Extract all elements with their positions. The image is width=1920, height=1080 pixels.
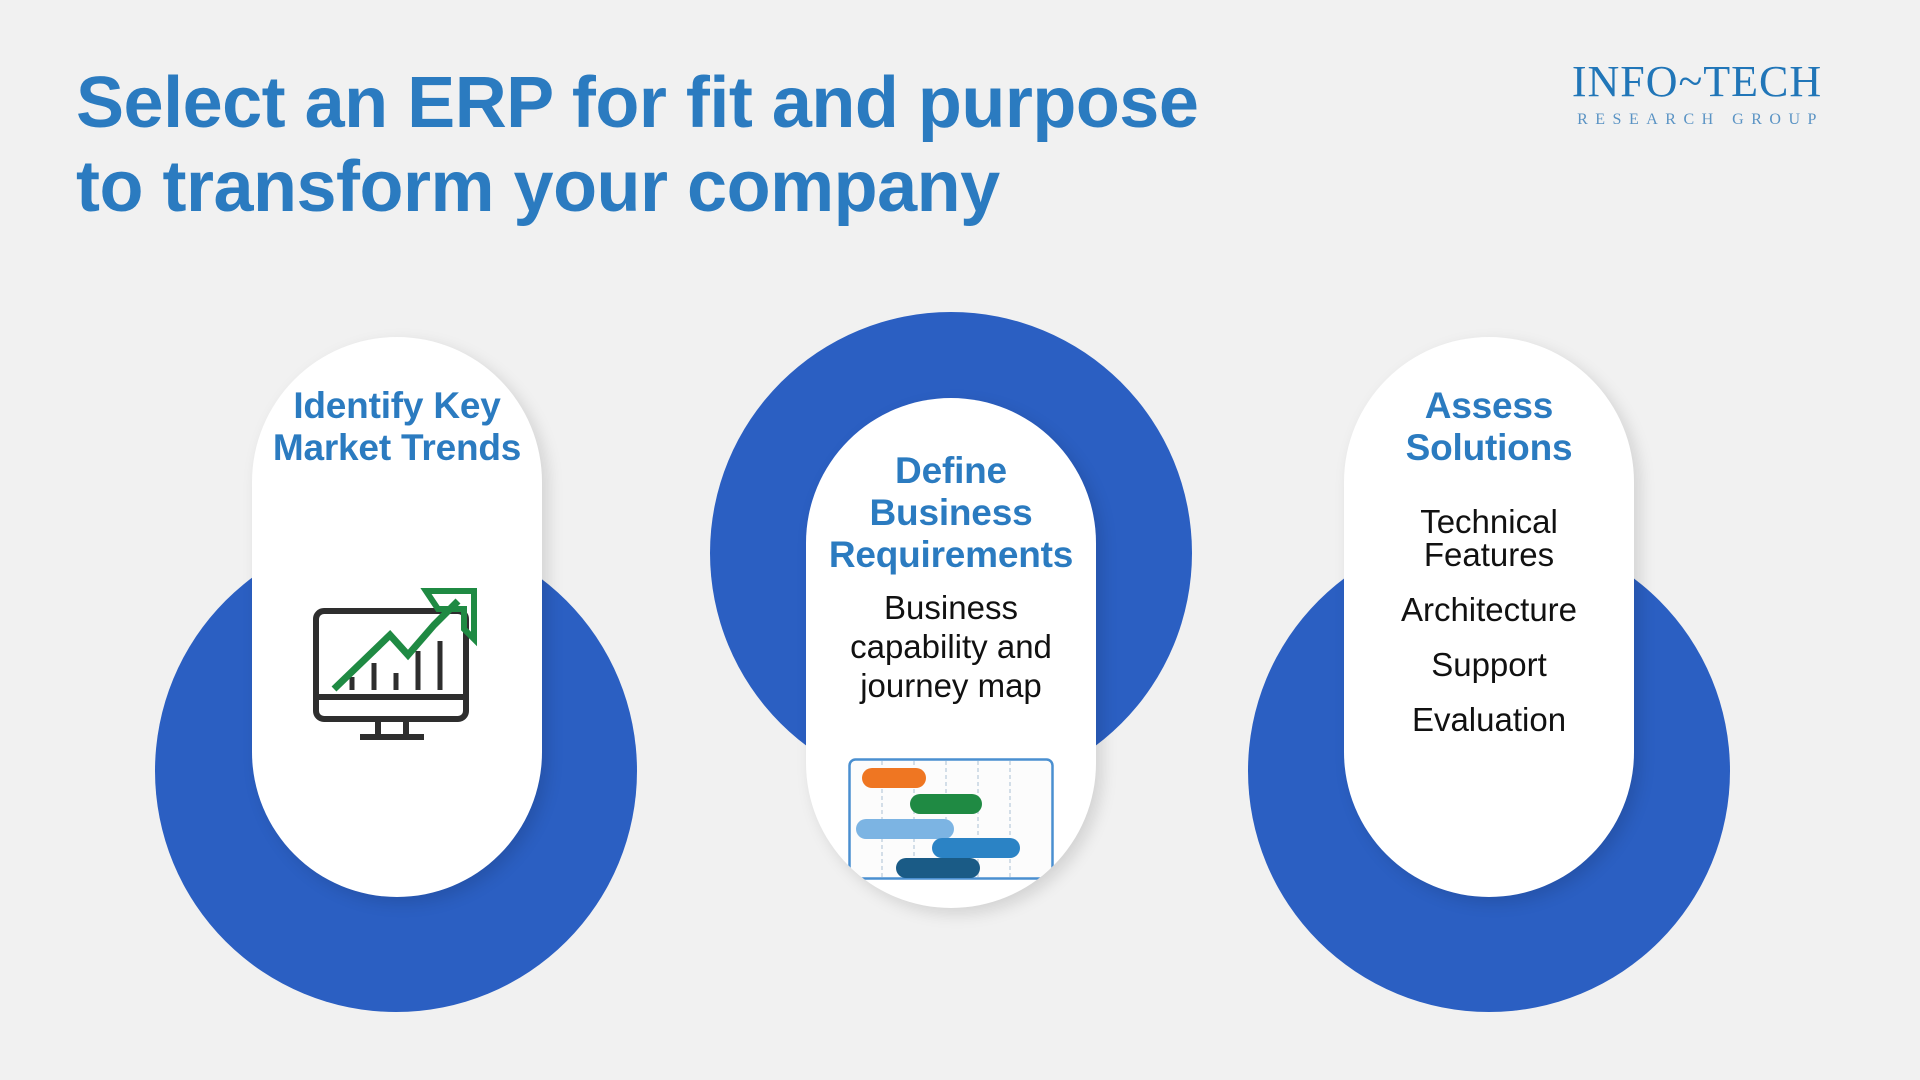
card-3-list-item-architecture: Architecture bbox=[1359, 593, 1619, 626]
card-3-list: Technical Features Architecture Support … bbox=[1359, 505, 1619, 758]
card-2-title: Define Business Requirements bbox=[811, 450, 1091, 575]
infographic-slide: Select an ERP for fit and purpose to tra… bbox=[0, 0, 1920, 1080]
card-3-list-item-support: Support bbox=[1359, 648, 1619, 681]
card-1-pill[interactable]: Identify Key Market Trends bbox=[252, 337, 542, 897]
card-3-title: Assess Solutions bbox=[1363, 385, 1615, 469]
brand-logo-wordmark: INFO~TECH bbox=[1532, 60, 1862, 104]
card-2-body: Business capability and journey map bbox=[825, 589, 1077, 705]
page-title-line-2: to transform your company bbox=[76, 146, 1396, 230]
page-title-line-1: Select an ERP for fit and purpose bbox=[76, 62, 1396, 146]
card-3-list-item-evaluation: Evaluation bbox=[1359, 703, 1619, 736]
page-title: Select an ERP for fit and purpose to tra… bbox=[76, 62, 1396, 229]
brand-logo: INFO~TECH RESEARCH GROUP bbox=[1532, 60, 1862, 129]
brand-logo-tagline: RESEARCH GROUP bbox=[1532, 111, 1862, 129]
card-3-pill[interactable]: Assess Solutions Technical Features Arch… bbox=[1344, 337, 1634, 897]
card-2-pill[interactable]: Define Business Requirements Business ca… bbox=[806, 398, 1096, 908]
gantt-chart-icon bbox=[848, 758, 1054, 885]
monitor-growth-chart-icon bbox=[308, 585, 486, 750]
brand-logo-name: INFO~TECH bbox=[1572, 57, 1822, 106]
card-3-list-item-technical-features: Technical Features bbox=[1359, 505, 1619, 571]
card-1-title: Identify Key Market Trends bbox=[271, 385, 523, 469]
